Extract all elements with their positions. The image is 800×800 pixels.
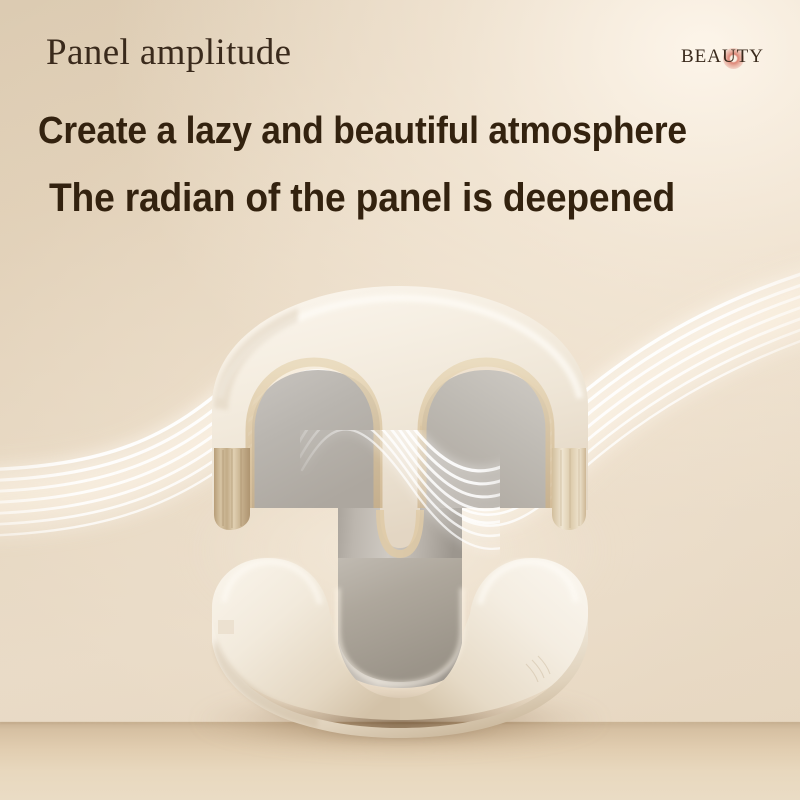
brand-name: BEAUTY — [681, 46, 764, 68]
tagline-secondary: The radian of the panel is deepened — [49, 176, 675, 221]
tagline-primary: Create a lazy and beautiful atmosphere — [38, 110, 687, 153]
product-marketing-banner: Panel amplitude BEAUTY Create a lazy and… — [0, 0, 800, 800]
brand-logo: BEAUTY — [681, 44, 764, 70]
text-overlay: Panel amplitude BEAUTY Create a lazy and… — [0, 0, 800, 800]
page-title: Panel amplitude — [46, 34, 291, 73]
